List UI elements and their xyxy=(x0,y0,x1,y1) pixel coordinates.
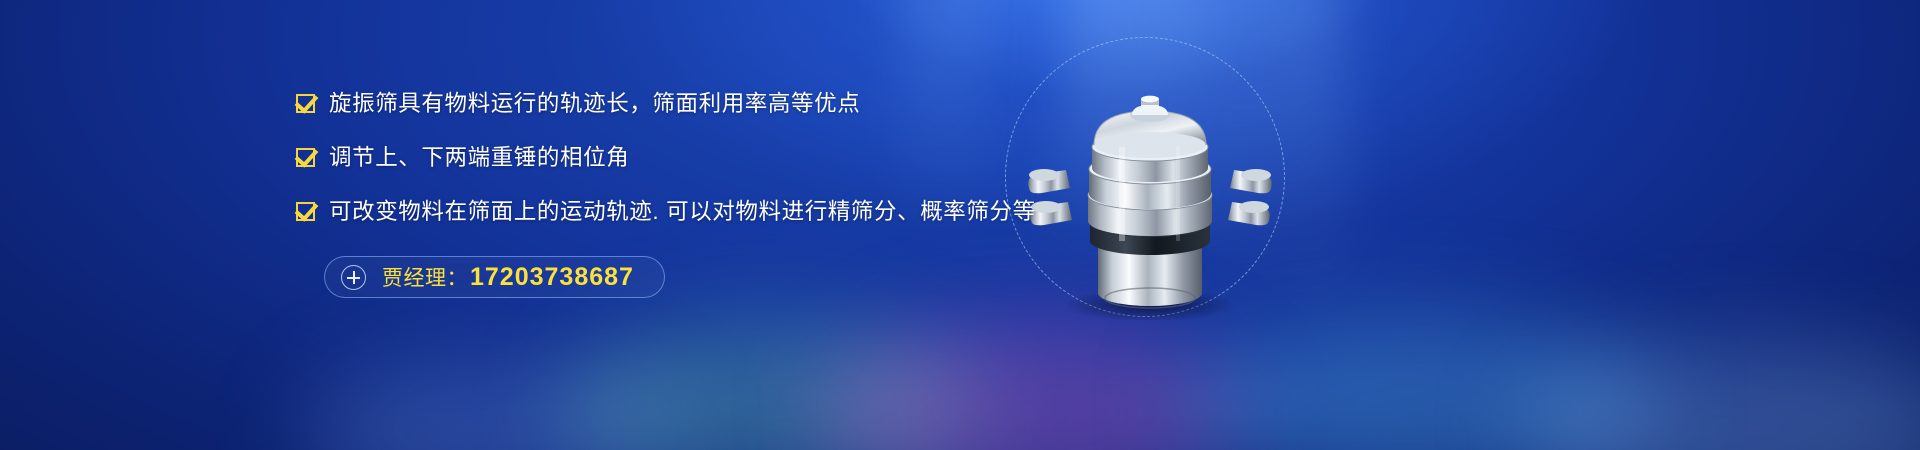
checkbox-checked-icon xyxy=(296,94,315,113)
feature-text: 旋振筛具有物料运行的轨迹长，筛面利用率高等优点 xyxy=(329,86,860,118)
glow-spot-icon xyxy=(560,320,980,450)
glow-spot-icon xyxy=(300,360,680,450)
plus-circle-icon xyxy=(341,265,366,290)
contact-name: 贾经理： xyxy=(382,262,468,292)
glow-spot-icon xyxy=(820,320,1240,450)
promo-banner: 旋振筛具有物料运行的轨迹长，筛面利用率高等优点 调节上、下两端重锤的相位角 可改… xyxy=(0,0,1920,450)
contact-button[interactable]: 贾经理： 17203738687 xyxy=(324,256,665,298)
glow-spot-icon xyxy=(1520,340,1920,450)
feature-text: 可改变物料在筛面上的运动轨迹. 可以对物料进行精筛分、概率筛分等 xyxy=(329,194,1036,226)
feature-item: 旋振筛具有物料运行的轨迹长，筛面利用率高等优点 xyxy=(296,86,1056,118)
contact-phone[interactable]: 17203738687 xyxy=(470,263,634,292)
checkbox-checked-icon xyxy=(296,148,315,167)
glow-spot-icon xyxy=(1180,315,1660,450)
feature-item: 调节上、下两端重锤的相位角 xyxy=(296,140,1056,172)
checkbox-checked-icon xyxy=(296,202,315,221)
feature-text: 调节上、下两端重锤的相位角 xyxy=(329,140,629,172)
feature-list: 旋振筛具有物料运行的轨迹长，筛面利用率高等优点 调节上、下两端重锤的相位角 可改… xyxy=(296,86,1056,298)
feature-item: 可改变物料在筛面上的运动轨迹. 可以对物料进行精筛分、概率筛分等 xyxy=(296,194,1056,226)
